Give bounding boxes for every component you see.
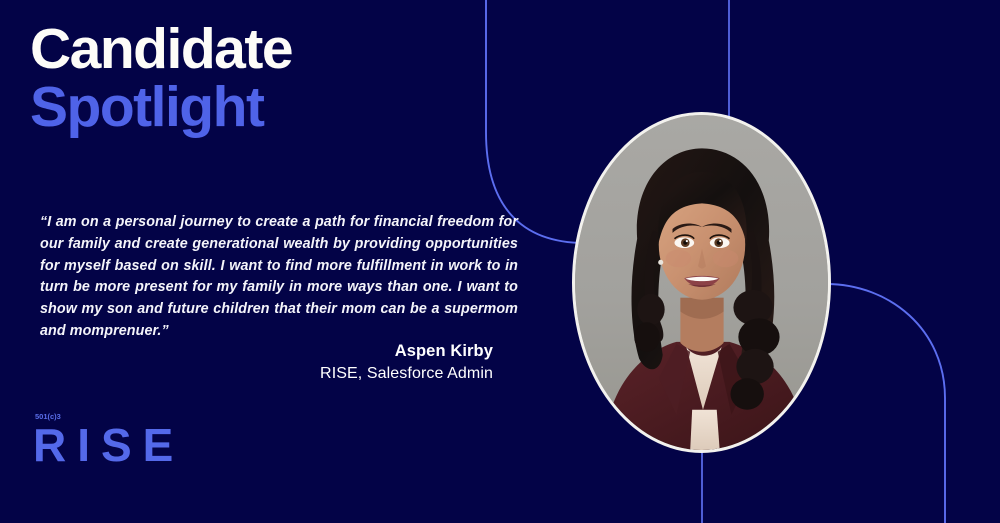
attribution: Aspen Kirby RISE, Salesforce Admin: [40, 342, 493, 383]
candidate-photo: [575, 115, 828, 450]
candidate-name: Aspen Kirby: [40, 342, 493, 361]
candidate-role: RISE, Salesforce Admin: [40, 365, 493, 383]
title-line-candidate: Candidate: [30, 22, 292, 77]
curve-right-portrait-to-bottom: [826, 284, 945, 523]
page-title: Candidate Spotlight: [30, 22, 292, 136]
candidate-spotlight-graphic: Candidate Spotlight “I am on a personal …: [0, 0, 1000, 523]
candidate-quote: “I am on a personal journey to create a …: [40, 212, 518, 342]
curve-top-center-to-portrait: [486, 0, 585, 243]
candidate-portrait: [572, 112, 831, 453]
title-line-spotlight: Spotlight: [30, 80, 292, 135]
rise-logo: 501(c)3 RISE: [33, 412, 184, 468]
portrait-artwork: [575, 115, 828, 450]
logo-wordmark: RISE: [33, 422, 184, 468]
